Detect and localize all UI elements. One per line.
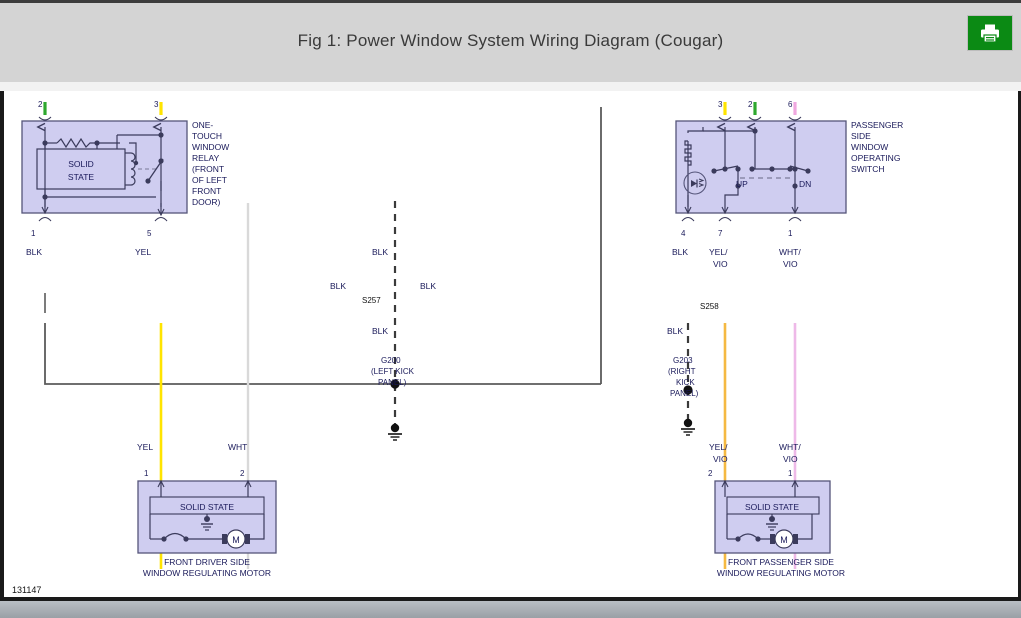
- svg-text:WINDOW: WINDOW: [192, 142, 229, 152]
- relay-wire-label-yel: YEL: [135, 247, 151, 257]
- splice-label-s257: S257: [362, 296, 381, 305]
- ground-loc-g200-line2: PANEL): [378, 378, 407, 387]
- relay-caption: ONE- TOUCH WINDOW RELAY (FRONT OF LEFT F…: [192, 120, 229, 207]
- relay-bottom-terminals: [39, 218, 167, 222]
- pass-switch-terminal-2-number: 2: [748, 100, 753, 109]
- passenger-motor-box: M: [715, 481, 830, 553]
- print-button[interactable]: [967, 15, 1013, 51]
- pass-wire-label-yelvio-2: VIO: [713, 259, 728, 269]
- page-header: Fig 1: Power Window System Wiring Diagra…: [0, 0, 1021, 82]
- pass-switch-terminal-4-number: 4: [681, 229, 686, 238]
- passenger-motor-symbol: M: [780, 535, 788, 545]
- pass-wire-label-whtvio-2: VIO: [783, 259, 798, 269]
- passenger-motor-caption-line2: WINDOW REGULATING MOTOR: [717, 568, 845, 578]
- svg-text:SWITCH: SWITCH: [851, 164, 885, 174]
- header-gap: [0, 82, 1021, 91]
- pass-switch-terminal-6-number: 6: [788, 100, 793, 109]
- pass-wire-label-yelvio-1: YEL/: [709, 247, 728, 257]
- pass-switch-terminal-7-number: 7: [718, 229, 723, 238]
- pass-switch-terminal-1-number: 1: [788, 229, 793, 238]
- passmotor-wire-label-whtvio-1: WHT/: [779, 442, 801, 452]
- svg-text:ONE-: ONE-: [192, 120, 213, 130]
- driver-motor-symbol: M: [232, 535, 240, 545]
- relay-solid-state-line1: SOLID: [68, 159, 94, 169]
- svg-text:SIDE: SIDE: [851, 131, 871, 141]
- passmotor-wire-label-yelvio-2: VIO: [713, 454, 728, 464]
- svg-text:RELAY: RELAY: [192, 153, 220, 163]
- ground-loc-g203-line3: PANEL): [670, 389, 699, 398]
- svg-text:FRONT: FRONT: [192, 186, 221, 196]
- relay-terminal-3-number: 3: [154, 100, 159, 109]
- svg-text:OF LEFT: OF LEFT: [192, 175, 227, 185]
- svg-text:(FRONT: (FRONT: [192, 164, 224, 174]
- pass-wire-label-blk: BLK: [672, 247, 688, 257]
- driver-motor-caption-line1: FRONT DRIVER SIDE: [164, 557, 250, 567]
- passenger-switch-bottom-terminals: [682, 218, 801, 222]
- ground-loc-g200-line1: (LEFT KICK: [371, 367, 415, 376]
- ground-loc-g203-line1: (RIGHT: [668, 367, 696, 376]
- passenger-switch-box: [676, 121, 846, 213]
- driver-terminal-2-number: 2: [240, 469, 245, 478]
- relay-solid-state-line2: STATE: [68, 172, 94, 182]
- passmotor-wire-label-yelvio-1: YEL/: [709, 442, 728, 452]
- passenger-motor-caption-line1: FRONT PASSENGER SIDE: [728, 557, 834, 567]
- ground-loc-g203-line2: KICK: [676, 378, 695, 387]
- passmotor-terminal-1-number: 1: [788, 469, 793, 478]
- svg-text:WINDOW: WINDOW: [851, 142, 888, 152]
- driver-wire-label-yel: YEL: [137, 442, 153, 452]
- driver-motor-caption-line2: WINDOW REGULATING MOTOR: [143, 568, 271, 578]
- relay-terminal-5-number: 5: [147, 229, 152, 238]
- passmotor-wire-label-whtvio-2: VIO: [783, 454, 798, 464]
- relay-top-terminals: [39, 102, 167, 120]
- passmotor-terminal-2-number: 2: [708, 469, 713, 478]
- bus-right-blk-label: BLK: [420, 281, 436, 291]
- relay-wire-label-blk: BLK: [26, 247, 42, 257]
- ground-bus-wire: [45, 323, 601, 384]
- splice-label-s258: S258: [700, 302, 719, 311]
- svg-text:OPERATING: OPERATING: [851, 153, 900, 163]
- center-blk-label-lower: BLK: [372, 326, 388, 336]
- driver-terminal-1-number: 1: [144, 469, 149, 478]
- relay-terminal-2-number: 2: [38, 100, 43, 109]
- diagram-page: Fig 1: Power Window System Wiring Diagra…: [0, 0, 1021, 618]
- center-blk-label: BLK: [372, 247, 388, 257]
- driver-motor-box: M: [138, 481, 276, 553]
- pass-switch-up-label: UP: [736, 179, 748, 189]
- svg-text:TOUCH: TOUCH: [192, 131, 222, 141]
- right-blk-label-lower: BLK: [667, 326, 683, 336]
- driver-wire-label-wht: WHT: [228, 442, 247, 452]
- wiring-diagram: M: [0, 91, 1021, 601]
- pass-wire-label-whtvio-1: WHT/: [779, 247, 801, 257]
- driver-solid-state-label: SOLID STATE: [180, 502, 234, 512]
- diagram-id-number: 131147: [12, 585, 41, 595]
- ground-symbol-g200: [388, 424, 402, 440]
- relay-box: [22, 121, 187, 215]
- svg-text:DOOR): DOOR): [192, 197, 221, 207]
- footer-strip: [0, 601, 1021, 618]
- page-title: Fig 1: Power Window System Wiring Diagra…: [0, 31, 1021, 51]
- ground-label-g200: G200: [381, 356, 401, 365]
- passenger-solid-state-label: SOLID STATE: [745, 502, 799, 512]
- printer-icon: [979, 23, 1001, 43]
- bus-left-blk-label: BLK: [330, 281, 346, 291]
- svg-text:PASSENGER: PASSENGER: [851, 120, 903, 130]
- pass-switch-dn-label: DN: [799, 179, 811, 189]
- ground-label-g203: G203: [673, 356, 693, 365]
- pass-switch-terminal-3-number: 3: [718, 100, 723, 109]
- ground-symbol-g203: [681, 419, 695, 435]
- passenger-switch-caption: PASSENGER SIDE WINDOW OPERATING SWITCH: [851, 120, 903, 174]
- relay-terminal-1-number: 1: [31, 229, 36, 238]
